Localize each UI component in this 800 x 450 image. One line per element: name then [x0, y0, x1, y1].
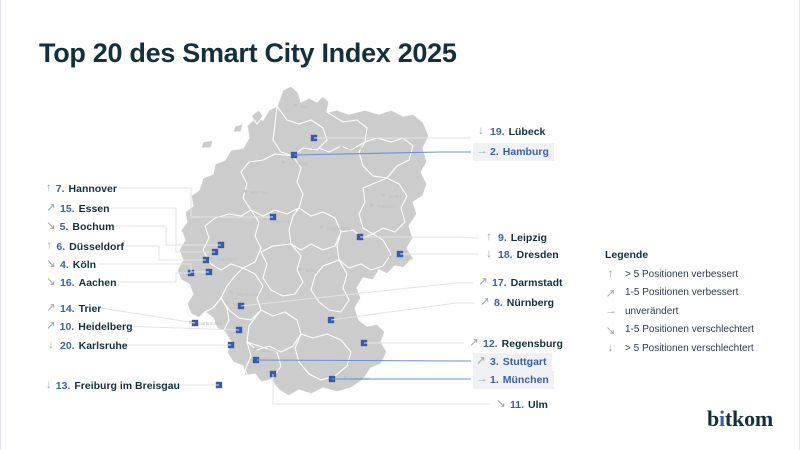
legend-item-4: ↓> 5 Positionen verschlechtert — [605, 342, 795, 354]
trend-arrow-icon: ↑ — [46, 241, 52, 253]
label-karlsruhe[interactable]: ↓20.Karlsruhe — [43, 337, 133, 355]
trend-arrow-icon: ↗ — [476, 356, 486, 368]
city-name: Heidelberg — [78, 322, 132, 333]
trend-arrow-icon: ↑ — [484, 232, 494, 244]
trend-arrow-icon: ↘ — [496, 399, 506, 411]
label-leipzig[interactable]: ↑9.Leipzig — [481, 229, 552, 247]
trend-arrow-icon: ↓ — [46, 340, 56, 352]
label-freiburg[interactable]: ↓13.Freiburg im Breisgau — [43, 377, 173, 395]
trend-arrow-icon: ↓ — [46, 380, 52, 392]
infographic-canvas: Top 20 des Smart City Index 2025 — [1, 0, 799, 450]
label-ulm[interactable]: ↘11.Ulm — [493, 396, 553, 414]
label-regensburg[interactable]: ↗12.Regensburg — [466, 335, 568, 353]
label-stuttgart[interactable]: ↗3.Stuttgart — [473, 353, 552, 371]
legend-item-0: ↑> 5 Positionen verbessert — [605, 268, 795, 280]
city-name: Lübeck — [509, 127, 546, 138]
legend-item-label: > 5 Positionen verbessert — [625, 269, 738, 280]
label-darmstadt[interactable]: ↗17.Darmstadt — [475, 274, 568, 292]
city-name: Leipzig — [511, 233, 547, 244]
trend-arrow-icon: → — [476, 374, 486, 386]
city-name: Essen — [79, 204, 110, 215]
legend: Legende ↑> 5 Positionen verbessert↗1-5 P… — [605, 249, 795, 360]
legend-item-label: > 5 Positionen verschlechtert — [625, 343, 754, 354]
legend-arrow-icon: ↗ — [605, 286, 616, 300]
label-koeln[interactable]: ↘4.Köln — [43, 256, 119, 274]
trend-arrow-icon: ↗ — [469, 338, 479, 350]
rank-number: 16. — [60, 278, 75, 289]
trend-arrow-icon: ↗ — [46, 321, 56, 333]
connector-darmstadt — [241, 283, 473, 306]
trend-arrow-icon: ↓ — [484, 249, 494, 261]
trend-arrow-icon: → — [476, 146, 486, 158]
legend-arrow-icon: ↓ — [605, 342, 616, 354]
trend-arrow-icon: ↘ — [46, 221, 56, 233]
city-name: Köln — [73, 260, 96, 271]
rank-number: 4. — [60, 260, 69, 271]
label-heidelberg[interactable]: ↗10.Heidelberg — [43, 318, 133, 336]
connector-heidelberg — [121, 326, 239, 330]
label-aachen[interactable]: ↘16.Aachen — [43, 274, 129, 292]
trend-arrow-icon: ↓ — [476, 126, 486, 138]
city-name: Trier — [79, 304, 102, 315]
label-nuernberg[interactable]: ↗8.Nürnberg — [477, 294, 559, 312]
city-name: Freiburg im Breisgau — [74, 381, 180, 392]
city-name: Hannover — [69, 184, 117, 195]
label-hamburg[interactable]: →2.Hamburg — [473, 143, 554, 161]
rank-number: 19. — [490, 127, 505, 138]
label-essen[interactable]: ↗15.Essen — [43, 200, 119, 218]
rank-number: 5. — [60, 222, 69, 233]
city-name: München — [503, 375, 549, 386]
trend-arrow-icon: ↗ — [46, 303, 56, 315]
rank-number: 6. — [56, 242, 65, 253]
connector-stuttgart — [256, 360, 471, 361]
connector-hannover — [119, 188, 273, 217]
connector-nuernberg — [331, 303, 475, 320]
trend-arrow-icon: ↑ — [46, 183, 52, 195]
city-name: Bochum — [72, 222, 114, 233]
city-name: Karlsruhe — [79, 341, 128, 352]
connector-duesseldorf — [118, 246, 206, 260]
legend-item-3: ↘1-5 Positionen verschlechtert — [605, 323, 795, 337]
rank-number: 7. — [56, 184, 65, 195]
rank-number: 3. — [490, 357, 499, 368]
legend-item-1: ↗1-5 Positionen verbessert — [605, 286, 795, 300]
trend-arrow-icon: ↗ — [480, 297, 490, 309]
rank-number: 11. — [510, 400, 524, 411]
legend-item-label: 1-5 Positionen verschlechtert — [625, 324, 754, 335]
rank-number: 10. — [60, 322, 75, 333]
rank-number: 2. — [490, 147, 499, 158]
city-name: Regensburg — [502, 339, 563, 350]
rank-number: 18. — [498, 250, 513, 261]
label-trier[interactable]: ↗14.Trier — [43, 300, 119, 318]
connector-hamburg — [294, 152, 471, 155]
legend-arrow-icon: → — [605, 305, 616, 317]
trend-arrow-icon: ↘ — [46, 277, 56, 289]
city-name: Nürnberg — [507, 298, 554, 309]
city-name: Düsseldorf — [69, 242, 124, 253]
legend-arrow-icon: ↑ — [605, 268, 616, 280]
rank-number: 1. — [490, 375, 499, 386]
rank-number: 15. — [60, 204, 75, 215]
rank-number: 13. — [56, 381, 71, 392]
rank-number: 20. — [60, 341, 75, 352]
label-hannover[interactable]: ↑7.Hannover — [43, 180, 119, 198]
rank-number: 17. — [492, 278, 507, 289]
rank-number: 14. — [60, 304, 75, 315]
label-luebeck[interactable]: ↓19.Lübeck — [473, 123, 550, 141]
trend-arrow-icon: ↗ — [478, 277, 488, 289]
city-name: Darmstadt — [511, 278, 563, 289]
label-muenchen[interactable]: →1.München — [473, 371, 554, 389]
legend-item-2: →unverändert — [605, 305, 795, 317]
rank-number: 12. — [483, 339, 498, 350]
legend-item-label: unverändert — [625, 306, 678, 317]
connector-leipzig — [360, 237, 479, 238]
city-name: Hamburg — [503, 147, 549, 158]
label-dresden[interactable]: ↓18.Dresden — [481, 246, 564, 264]
city-name: Stuttgart — [503, 357, 547, 368]
legend-items: ↑> 5 Positionen verbessert↗1-5 Positione… — [605, 268, 795, 354]
city-name: Ulm — [528, 400, 548, 411]
rank-number: 8. — [494, 298, 503, 309]
label-duesseldorf[interactable]: ↑6.Düsseldorf — [43, 238, 129, 256]
legend-arrow-icon: ↘ — [605, 323, 616, 337]
trend-arrow-icon: ↘ — [46, 259, 56, 271]
legend-title: Legende — [605, 249, 795, 261]
bitkom-logo: bitkom — [707, 406, 773, 432]
legend-item-label: 1-5 Positionen verbessert — [625, 287, 738, 298]
label-bochum[interactable]: ↘5.Bochum — [43, 218, 119, 236]
rank-number: 9. — [498, 233, 507, 244]
city-name: Dresden — [517, 250, 559, 261]
trend-arrow-icon: ↗ — [46, 203, 56, 215]
logo-i-dot: i — [719, 406, 725, 431]
city-name: Aachen — [79, 278, 117, 289]
